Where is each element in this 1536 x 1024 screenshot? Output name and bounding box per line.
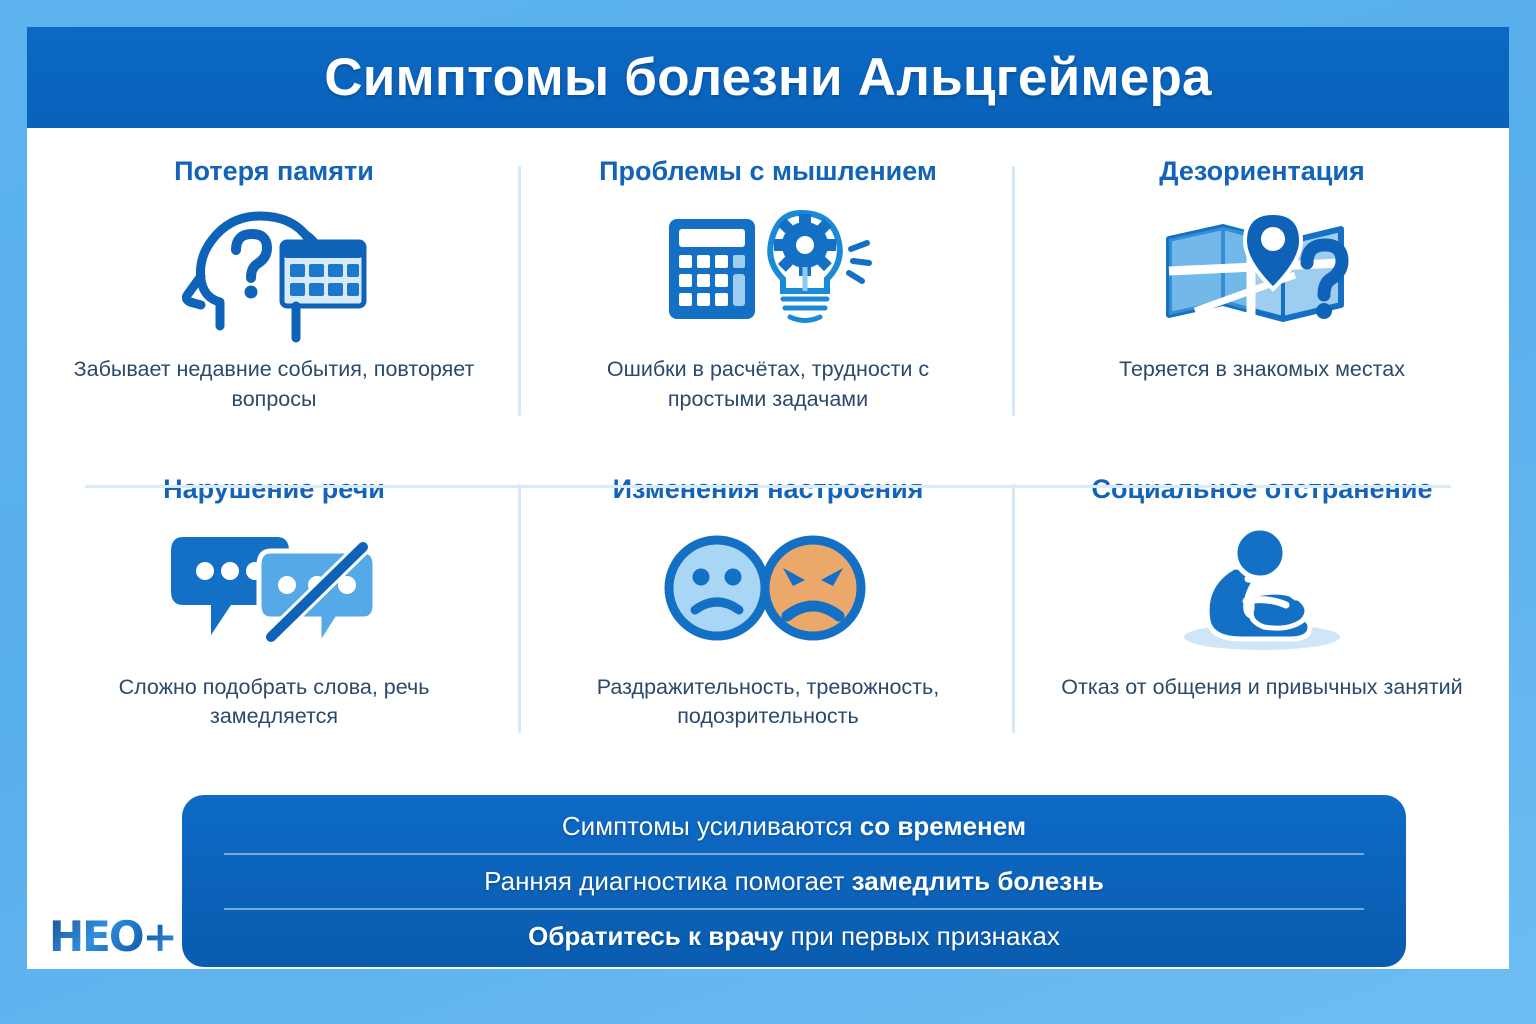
callout-line-2: Ранняя диагностика помогает замедлить бо… xyxy=(224,853,1364,908)
symptom-card-speech-impairment[interactable]: Нарушение речи xyxy=(27,446,521,764)
sitting-lonely-person-icon xyxy=(1160,513,1365,663)
card-title: Изменения настроения xyxy=(613,474,924,505)
callout-line-2-bold: замедлить болезнь xyxy=(852,866,1104,896)
head-question-calendar-icon xyxy=(174,195,374,345)
page-title: Симптомы болезни Альцгеймера xyxy=(324,47,1211,108)
card-title: Проблемы с мышлением xyxy=(599,156,937,187)
card-description: Теряется в знакомых местах xyxy=(1119,355,1405,385)
symptom-card-thinking-problems[interactable]: Проблемы с мышлением xyxy=(521,128,1015,446)
card-title: Дезориентация xyxy=(1159,156,1364,187)
card-description: Раздражительность, тревожность, подозрит… xyxy=(558,673,978,732)
symptom-card-disorientation[interactable]: Дезориентация xyxy=(1015,128,1509,446)
speech-bubbles-slash-icon xyxy=(167,513,382,663)
callout-line-2-normal-before: Ранняя диагностика помогает xyxy=(484,866,852,896)
callout-line-1: Симптомы усиливаются со временем xyxy=(224,800,1364,853)
key-messages-callout: Симптомы усиливаются со временем Ранняя … xyxy=(182,795,1406,967)
card-title: Нарушение речи xyxy=(163,474,385,505)
card-description: Сложно подобрать слова, речь замедляется xyxy=(64,673,484,732)
row-divider xyxy=(85,485,1451,488)
callout-line-1-normal-before: Симптомы усиливаются xyxy=(562,811,860,841)
card-description: Отказ от общения и привычных занятий xyxy=(1061,673,1462,703)
symptom-card-social-withdrawal[interactable]: Социальное отстранение xyxy=(1015,446,1509,764)
brand-logo: НЕО+ xyxy=(49,912,176,961)
card-title: Социальное отстранение xyxy=(1092,474,1433,505)
sad-angry-faces-icon xyxy=(661,513,876,663)
callout-line-3-normal-after: при первых признаках xyxy=(783,921,1059,951)
poster-root: Симптомы болезни Альцгеймера Потеря памя… xyxy=(0,0,1536,1024)
calculator-lightbulb-gear-icon xyxy=(661,195,876,345)
callout-line-1-bold: со временем xyxy=(860,811,1026,841)
map-pin-question-icon xyxy=(1155,195,1370,345)
symptom-grid: Потеря памяти xyxy=(27,128,1509,763)
callout-line-3: Обратитесь к врачу при первых признаках xyxy=(224,908,1364,963)
symptom-card-memory-loss[interactable]: Потеря памяти xyxy=(27,128,521,446)
poster-inner-panel: Симптомы болезни Альцгеймера Потеря памя… xyxy=(27,27,1509,969)
card-title: Потеря памяти xyxy=(174,156,374,187)
callout-line-3-bold: Обратитесь к врачу xyxy=(528,921,783,951)
card-description: Забывает недавние события, повторяет воп… xyxy=(64,355,484,414)
card-description: Ошибки в расчётах, трудности с простыми … xyxy=(558,355,978,414)
header-band: Симптомы болезни Альцгеймера xyxy=(27,27,1509,128)
symptom-card-mood-changes[interactable]: Изменения настроения xyxy=(521,446,1015,764)
